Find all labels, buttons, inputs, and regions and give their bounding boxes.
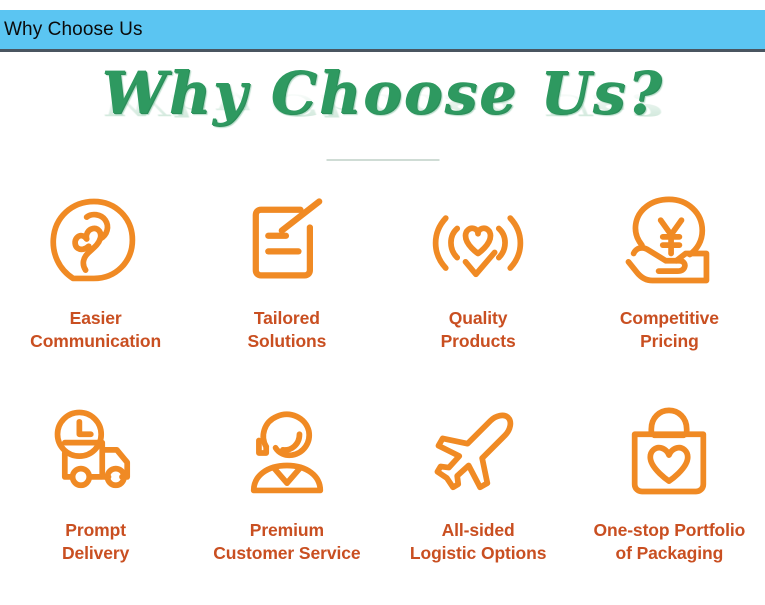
- feature-item-competitive-pricing[interactable]: Competitive Pricing: [574, 181, 765, 393]
- airplane-icon: [426, 401, 530, 505]
- window-titlebar: Why Choose Us: [0, 10, 765, 52]
- page-content: Why Choose Us? Why Choose Us? Easier Com…: [0, 55, 765, 599]
- feature-label: All-sided Logistic Options: [410, 519, 546, 565]
- feature-label: Premium Customer Service: [213, 519, 360, 565]
- feature-item-tailored-solutions[interactable]: Tailored Solutions: [191, 181, 382, 393]
- shopping-bag-heart-icon: [617, 401, 721, 505]
- document-pencil-icon: [235, 189, 339, 293]
- feature-label: Easier Communication: [30, 307, 161, 353]
- feature-item-premium-customer-service[interactable]: Premium Customer Service: [191, 393, 382, 605]
- heart-check-signal-icon: [426, 189, 530, 293]
- feature-item-easier-communication[interactable]: Easier Communication: [0, 181, 191, 393]
- page-title: Why Choose Us?: [0, 57, 765, 129]
- ear-listening-icon: [44, 189, 148, 293]
- feature-item-quality-products[interactable]: Quality Products: [383, 181, 574, 393]
- delivery-truck-clock-icon: [44, 401, 148, 505]
- feature-item-one-stop-portfolio-of-packaging[interactable]: One-stop Portfolio of Packaging: [574, 393, 765, 605]
- feature-item-all-sided-logistic-options[interactable]: All-sided Logistic Options: [383, 393, 574, 605]
- headset-agent-icon: [235, 401, 339, 505]
- window-title: Why Choose Us: [0, 20, 143, 39]
- feature-label: Tailored Solutions: [247, 307, 326, 353]
- heading-divider: [326, 159, 439, 161]
- feature-label: One-stop Portfolio of Packaging: [593, 519, 745, 565]
- feature-label: Prompt Delivery: [62, 519, 129, 565]
- feature-label: Quality Products: [441, 307, 516, 353]
- feature-label: Competitive Pricing: [620, 307, 719, 353]
- feature-grid: Easier Communication Tailored Solutions: [0, 181, 765, 605]
- hand-yen-coin-icon: [617, 189, 721, 293]
- feature-item-prompt-delivery[interactable]: Prompt Delivery: [0, 393, 191, 605]
- hero-heading-block: Why Choose Us? Why Choose Us?: [0, 55, 765, 167]
